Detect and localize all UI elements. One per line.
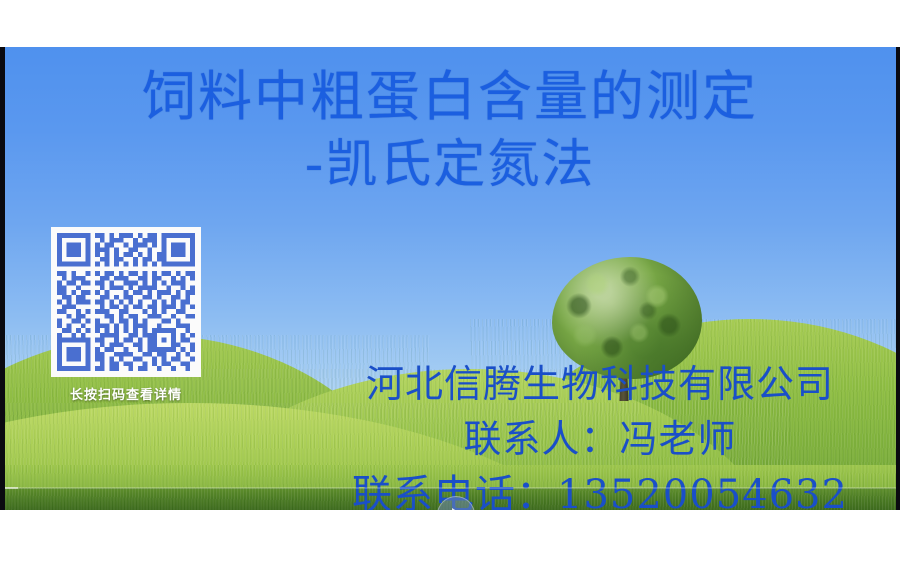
contact-person: 联系人：冯老师 bbox=[300, 411, 900, 467]
page-subtitle: -凯氏定氮法 bbox=[0, 132, 900, 198]
frame-bezel-left bbox=[0, 47, 5, 510]
screenshot-root: 饲料中粗蛋白含量的测定 -凯氏定氮法 河北信腾生物科技有限公司 联系人：冯老师 … bbox=[0, 0, 900, 561]
page-title: 饲料中粗蛋白含量的测定 bbox=[0, 62, 900, 132]
video-progress-bar[interactable] bbox=[0, 487, 900, 489]
qr-block[interactable]: 长按扫码查看详情 bbox=[46, 227, 206, 403]
qr-caption: 长按扫码查看详情 bbox=[46, 384, 206, 403]
play-triangle-icon bbox=[452, 508, 463, 510]
qr-code-image[interactable] bbox=[51, 227, 201, 377]
frame-bezel-right bbox=[896, 47, 900, 510]
title-block: 饲料中粗蛋白含量的测定 -凯氏定氮法 bbox=[0, 62, 900, 198]
company-name: 河北信腾生物科技有限公司 bbox=[300, 357, 900, 411]
video-frame[interactable]: 饲料中粗蛋白含量的测定 -凯氏定氮法 河北信腾生物科技有限公司 联系人：冯老师 … bbox=[0, 47, 900, 510]
